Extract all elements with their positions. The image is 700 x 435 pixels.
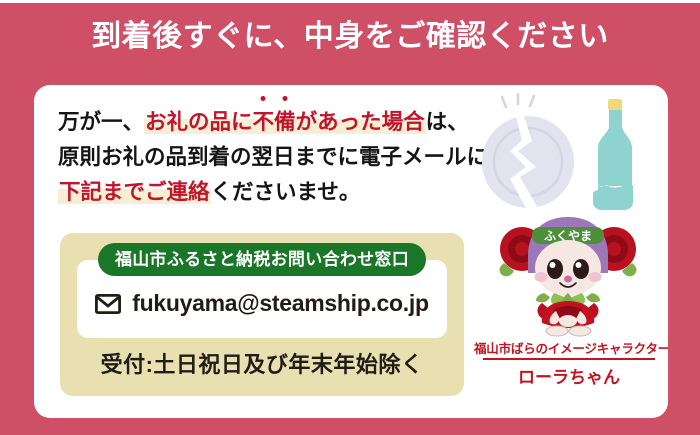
notice-line1-lead: 万が一、 [58, 110, 144, 134]
contact-email[interactable]: fukuyama@steamship.co.jp [132, 290, 428, 317]
notice-line1-bouten-2: 備 [274, 105, 296, 140]
notice-line3-emphasis: 下記までご連絡 [58, 180, 211, 204]
notice-line1-emphasis-a: お礼の品に [145, 110, 253, 134]
notice-line1-emphasis-b: があった場合 [296, 110, 425, 134]
notice-line-1: 万が一、お礼の品に不備があった場合は、 [58, 105, 488, 140]
mascot-caption-divider [483, 358, 655, 360]
contact-inner-panel: 福山市ふるさと納税お問い合わせ窓口 fukuyama@steamship.co.… [77, 260, 447, 338]
mascot-block: ふくやま [474, 213, 664, 399]
notice-text: 万が一、お礼の品に不備があった場合は、 原則お礼の品到着の翌日までに電子メールに… [58, 105, 488, 210]
broken-bottle-icon [593, 99, 634, 210]
contact-box: 福山市ふるさと納税お問い合わせ窓口 fukuyama@steamship.co.… [60, 233, 464, 396]
impact-marks-icon [502, 94, 534, 107]
email-row[interactable]: fukuyama@steamship.co.jp [77, 290, 447, 317]
page-title: 到着後すぐに、中身をご確認ください [0, 20, 700, 53]
notice-line1-bouten-1: 不 [253, 105, 275, 140]
notice-line1-emphasis: お礼の品に不備があった場合 [144, 110, 426, 134]
contact-hours: 受付:土日祝日及び年末年始除く [60, 347, 464, 379]
notice-line3-tail: くださいませ。 [211, 180, 361, 204]
mascot-rola-chan-illustration: ふくやま [492, 213, 644, 337]
content-card: 万が一、お礼の品に不備があった場合は、 原則お礼の品到着の翌日までに電子メールに… [34, 85, 668, 418]
mascot-role-caption: 福山市ばらのイメージキャラクター [474, 338, 664, 357]
broken-plate-icon [482, 116, 574, 208]
broken-goods-illustration [462, 93, 662, 223]
notice-poster: 到着後すぐに、中身をご確認ください 万が一、お礼の品に不備があった場合は、 原則… [0, 3, 700, 435]
contact-window-label: 福山市ふるさと納税お問い合わせ窓口 [98, 243, 426, 276]
notice-line-2: 原則お礼の品到着の翌日までに電子メールにて [58, 140, 488, 175]
mascot-name-caption: ローラちゃん [474, 363, 664, 388]
notice-line-3: 下記までご連絡くださいませ。 [58, 175, 488, 210]
mascot-face [535, 240, 602, 296]
envelope-icon [95, 294, 121, 314]
